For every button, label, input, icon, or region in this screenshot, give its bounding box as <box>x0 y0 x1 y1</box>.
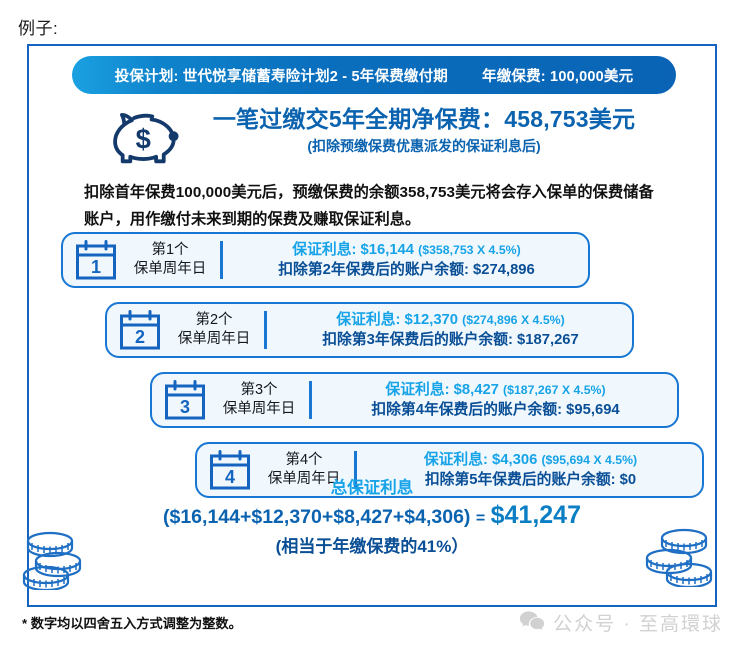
guaranteed-interest-line: 保证利息: $8,427 ($187,267 X 4.5%) <box>324 380 667 400</box>
guaranteed-interest-calc: ($187,267 X 4.5%) <box>503 383 606 397</box>
guaranteed-interest-calc: ($274,896 X 4.5%) <box>462 313 565 327</box>
coin-stack-icon <box>22 528 102 590</box>
calendar-icon: 2 <box>119 310 161 350</box>
totals-formula: ($16,144+$12,370+$8,427+$4,306) = $41,24… <box>29 500 715 534</box>
svg-text:$: $ <box>136 123 151 154</box>
wechat-icon <box>519 610 545 636</box>
calendar-icon: 1 <box>75 240 117 280</box>
calendar-day-number: 2 <box>135 327 145 347</box>
anniversary-line-1: 第2个 <box>172 311 256 330</box>
watermark: 公众号 · 至高環球 <box>519 609 723 636</box>
hero-title: 一笔过缴交5年全期净保费：458,753美元 <box>189 104 659 134</box>
totals-grand-total: $41,247 <box>491 501 581 529</box>
totals-equals-sign: = <box>476 510 485 527</box>
table-row: 1 第1个 保单周年日 保证利息: $16,144 ($358,753 X 4.… <box>61 232 590 288</box>
account-balance-line: 扣除第4年保费后的账户余额: $95,694 <box>324 400 667 421</box>
anniversary-label: 第1个 保单周年日 <box>128 241 212 279</box>
card-values: 保证利息: $12,370 ($274,896 X 4.5%) 扣除第3年保费后… <box>279 310 632 351</box>
guaranteed-interest-calc: ($95,694 X 4.5%) <box>541 453 637 467</box>
account-balance-line: 扣除第3年保费后的账户余额: $187,267 <box>279 330 622 351</box>
table-row: 3 第3个 保单周年日 保证利息: $8,427 ($187,267 X 4.5… <box>150 372 679 428</box>
anniversary-line-1: 第4个 <box>262 451 346 470</box>
coin-stack-icon <box>639 525 719 587</box>
anniversary-line-2: 保单周年日 <box>172 330 256 349</box>
calendar-day-number: 3 <box>180 397 190 417</box>
plan-name-label: 投保计划: 世代悦享储蓄寿险计划2 - 5年保费缴付期 <box>115 65 448 86</box>
card-values: 保证利息: $8,427 ($187,267 X 4.5%) 扣除第4年保费后的… <box>324 380 677 421</box>
calendar-day-number: 1 <box>91 257 101 277</box>
divider <box>309 381 312 419</box>
hero-subtitle: (扣除预缴保费优惠派发的保证利息后) <box>189 137 659 156</box>
guaranteed-interest-calc: ($358,753 X 4.5%) <box>418 243 521 257</box>
guaranteed-interest-amount: 保证利息: $8,427 <box>385 382 498 398</box>
guaranteed-interest-amount: 保证利息: $12,370 <box>336 312 458 328</box>
totals-section: 总保证利息 ($16,144+$12,370+$8,427+$4,306) = … <box>29 476 715 560</box>
anniversary-label: 第3个 保单周年日 <box>217 381 301 419</box>
plan-header-bar: 投保计划: 世代悦享储蓄寿险计划2 - 5年保费缴付期 年缴保费: 100,00… <box>72 56 676 94</box>
account-balance-line: 扣除第2年保费后的账户余额: $274,896 <box>235 260 578 281</box>
guaranteed-interest-line: 保证利息: $12,370 ($274,896 X 4.5%) <box>279 310 622 330</box>
watermark-text: 公众号 · 至高環球 <box>553 609 723 636</box>
totals-formula-terms: ($16,144+$12,370+$8,427+$4,306) <box>163 506 470 528</box>
example-label: 例子: <box>18 14 58 39</box>
table-row: 2 第2个 保单周年日 保证利息: $12,370 ($274,896 X 4.… <box>105 302 634 358</box>
totals-title: 总保证利息 <box>29 476 715 500</box>
anniversary-line-1: 第3个 <box>217 381 301 400</box>
guaranteed-interest-amount: 保证利息: $16,144 <box>292 242 414 258</box>
totals-note: (相当于年缴保费的41%） <box>29 534 715 560</box>
piggy-bank-icon: $ <box>109 108 185 166</box>
hero-section: $ 一笔过缴交5年全期净保费：458,753美元 (扣除预缴保费优惠派发的保证利… <box>29 104 715 184</box>
calendar-icon: 3 <box>164 380 206 420</box>
footnote: * 数字均以四舍五入方式调整为整数。 <box>22 613 242 632</box>
annual-premium-label: 年缴保费: 100,000美元 <box>482 65 633 86</box>
anniversary-line-1: 第1个 <box>128 241 212 260</box>
guaranteed-interest-line: 保证利息: $4,306 ($95,694 X 4.5%) <box>369 450 692 470</box>
anniversary-line-2: 保单周年日 <box>217 400 301 419</box>
anniversary-label: 第2个 保单周年日 <box>172 311 256 349</box>
guaranteed-interest-amount: 保证利息: $4,306 <box>424 452 537 468</box>
divider <box>220 241 223 279</box>
guaranteed-interest-line: 保证利息: $16,144 ($358,753 X 4.5%) <box>235 240 578 260</box>
intro-paragraph: 扣除首年保费100,000美元后，预缴保费的余额358,753美元将会存入保单的… <box>84 179 669 233</box>
illustration-panel: 投保计划: 世代悦享储蓄寿险计划2 - 5年保费缴付期 年缴保费: 100,00… <box>27 44 717 607</box>
anniversary-line-2: 保单周年日 <box>128 260 212 279</box>
divider <box>264 311 267 349</box>
card-values: 保证利息: $16,144 ($358,753 X 4.5%) 扣除第2年保费后… <box>235 240 588 281</box>
hero-text-block: 一笔过缴交5年全期净保费：458,753美元 (扣除预缴保费优惠派发的保证利息后… <box>189 104 659 156</box>
